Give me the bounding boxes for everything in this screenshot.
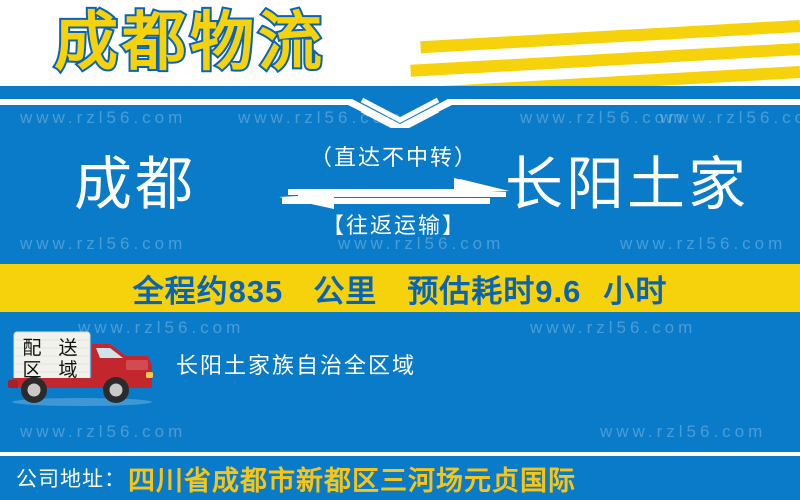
address-value: 四川省成都市新都区三河场元贞国际 <box>128 459 576 498</box>
company-address-bar: 公司地址： 四川省成都市新都区三河场元贞国际 <box>0 452 800 500</box>
metrics-band: 全程约835 公里 预估耗时9.6 小时 <box>0 264 800 312</box>
decorative-stripes <box>380 0 800 86</box>
bidirectional-arrow-icon <box>278 178 510 210</box>
truck-label-char-2: 送 <box>58 337 77 359</box>
distance-unit: 公里 <box>313 266 377 311</box>
delivery-zone-text: 长阳土家族自治全区域 <box>176 348 416 380</box>
duration-unit: 小时 <box>603 266 667 311</box>
round-trip-note: 【往返运输】 <box>278 212 510 240</box>
address-label: 公司地址： <box>16 463 126 493</box>
page-title: 成都物流 <box>54 4 326 80</box>
truck-label-char-1: 配 <box>22 338 41 359</box>
delivery-zone-row: 配 送 区 域 长阳土家族自治全区域 <box>0 326 800 412</box>
watermark: www.rzl56.com <box>20 422 186 442</box>
direct-note: （直达不中转） <box>278 144 510 172</box>
logistics-poster: 成都物流 www.rzl56.com www.rzl56.com www.rzl… <box>0 0 800 500</box>
watermark: www.rzl56.com <box>600 422 766 442</box>
chevron-divider <box>0 94 800 128</box>
poster-header: 成都物流 <box>0 0 800 86</box>
origin-city: 成都 <box>74 150 196 220</box>
destination-city: 长阳土家 <box>505 150 749 220</box>
distance-value: 全程约835 <box>133 266 284 311</box>
truck-label-char-4: 域 <box>58 359 77 381</box>
delivery-truck-icon: 配 送 区 域 <box>6 328 166 406</box>
poster-body: www.rzl56.com www.rzl56.com www.rzl56.co… <box>0 86 800 452</box>
route-row: 成都 （直达不中转） 【往返运输】 长阳土家 <box>0 144 800 254</box>
route-middle: （直达不中转） 【往返运输】 <box>278 140 510 264</box>
chevron-down-icon <box>0 94 800 128</box>
duration-value: 预估耗时9.6 <box>407 266 581 311</box>
truck-label-char-3: 区 <box>22 360 41 381</box>
